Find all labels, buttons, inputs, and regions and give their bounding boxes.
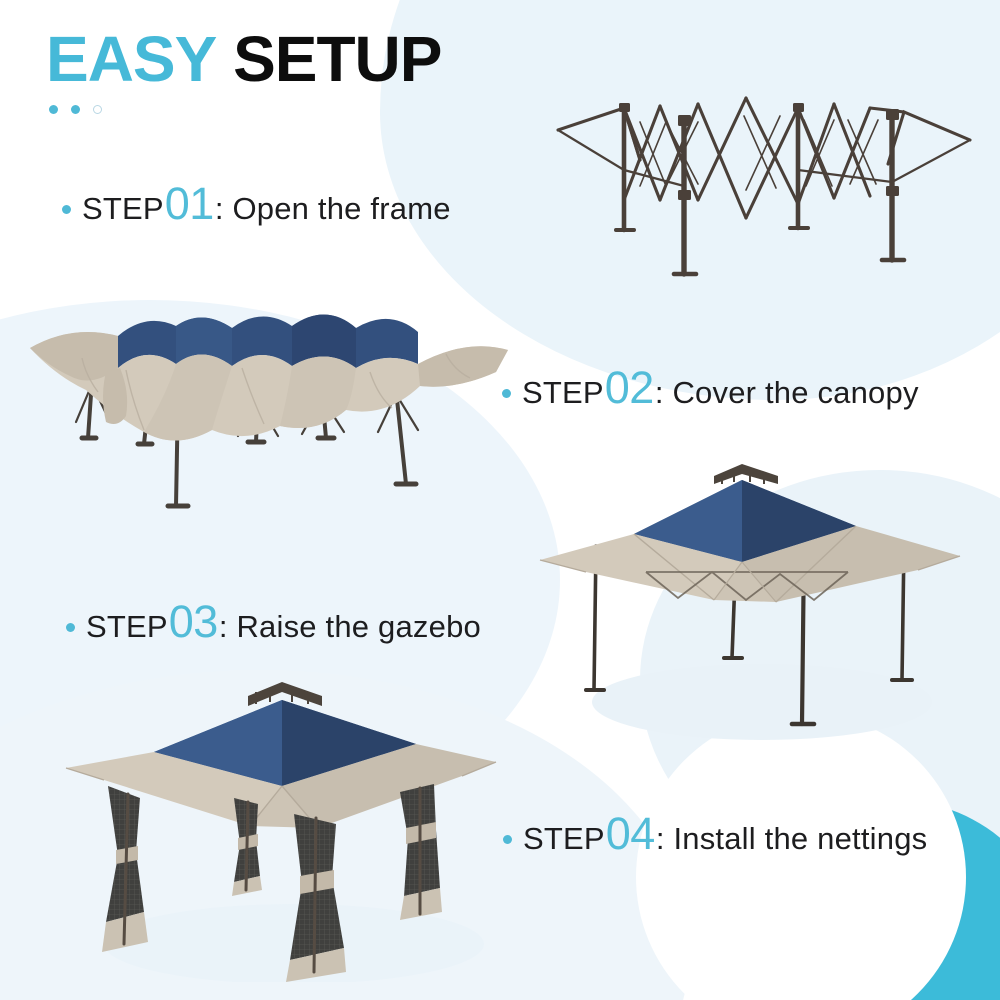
step-number-02: 02	[604, 362, 655, 414]
title-word-easy: EASY	[46, 23, 216, 95]
bullet-dot-icon	[62, 205, 71, 214]
step-text-02: : Cover the canopy	[655, 375, 919, 411]
step-text-01: : Open the frame	[215, 191, 451, 227]
page-title: EASY SETUP	[46, 26, 441, 93]
step-number-04: 04	[605, 808, 656, 860]
title-word-setup: SETUP	[233, 23, 441, 95]
illustration-gazebo-raised	[526, 452, 974, 740]
illustration-gazebo-with-netting	[44, 664, 514, 982]
step-text-04: : Install the nettings	[656, 821, 928, 857]
step-caption-01: STEP 01 : Open the frame	[62, 178, 451, 230]
title-dot-1	[49, 105, 58, 114]
easy-setup-infographic: EASY SETUP STEP 01 : Open the frame STEP…	[0, 0, 1000, 1000]
illustration-gazebo-canopy-draped	[26, 272, 512, 532]
illustration-gazebo-frame-unfolded	[548, 78, 980, 288]
title-dot-2	[71, 105, 80, 114]
step-label-02: STEP	[522, 375, 604, 411]
step-number-01: 01	[164, 178, 215, 230]
step-caption-02: STEP 02 : Cover the canopy	[502, 362, 919, 414]
step-label-01: STEP	[82, 191, 164, 227]
step-caption-04: STEP 04 : Install the nettings	[503, 808, 927, 860]
title-dot-group	[46, 105, 441, 114]
step-label-04: STEP	[523, 821, 605, 857]
title-dot-3	[93, 105, 102, 114]
bullet-dot-icon	[66, 623, 75, 632]
page-header: EASY SETUP	[46, 26, 441, 114]
step-caption-03: STEP 03 : Raise the gazebo	[66, 596, 481, 648]
step-text-03: : Raise the gazebo	[219, 609, 481, 645]
step-number-03: 03	[168, 596, 219, 648]
step-label-03: STEP	[86, 609, 168, 645]
